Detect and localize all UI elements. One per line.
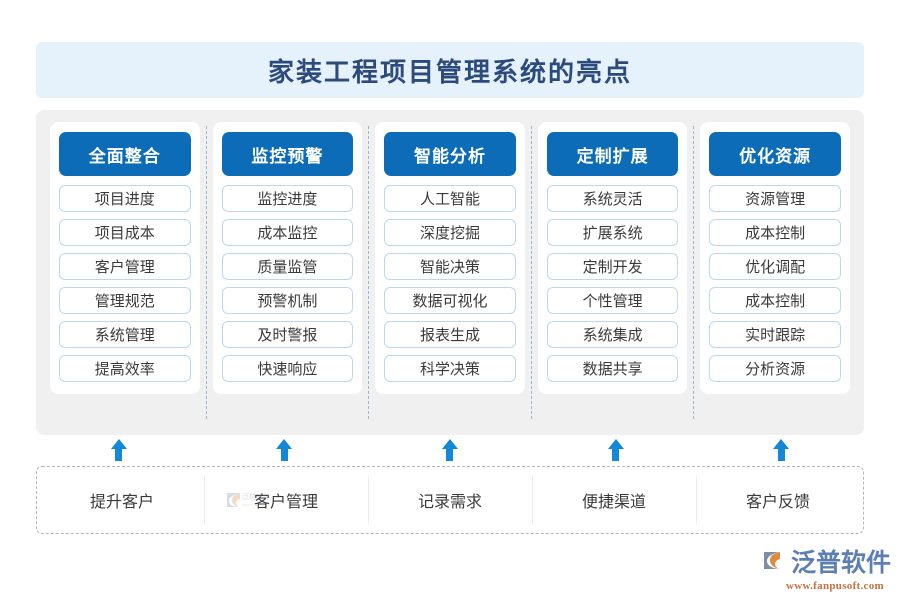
column-item[interactable]: 项目进度 [59,185,191,212]
bottom-cell-4[interactable]: 客户反馈 [699,472,857,528]
column-item[interactable]: 深度挖掘 [384,219,516,246]
footer-brand: 泛普软件 [791,551,891,576]
column-wrap-3: 定制扩展 系统灵活 扩展系统 定制开发 个性管理 系统集成 数据共享 [532,122,694,394]
bottom-cell-0[interactable]: 提升客户 [43,472,201,528]
bottom-cell-3[interactable]: 便捷渠道 [535,472,693,528]
column-item[interactable]: 项目成本 [59,219,191,246]
feature-column-4[interactable]: 优化资源 资源管理 成本控制 优化调配 成本控制 实时跟踪 分析资源 [700,122,850,394]
column-item[interactable]: 成本控制 [709,219,841,246]
arrow-up-icon [442,439,458,461]
column-header-0[interactable]: 全面整合 [59,132,191,176]
column-item[interactable]: 报表生成 [384,321,516,348]
feature-column-3[interactable]: 定制扩展 系统灵活 扩展系统 定制开发 个性管理 系统集成 数据共享 [538,122,688,394]
column-item[interactable]: 质量监管 [222,253,354,280]
page-title-band: 家装工程项目管理系统的亮点 [36,42,864,98]
arrow-cell-2 [367,437,533,463]
column-header-2[interactable]: 智能分析 [384,132,516,176]
column-item[interactable]: 实时跟踪 [709,321,841,348]
column-item[interactable]: 数据共享 [547,355,679,382]
column-item[interactable]: 智能决策 [384,253,516,280]
arrow-cell-1 [202,437,368,463]
column-item[interactable]: 系统集成 [547,321,679,348]
column-item[interactable]: 成本控制 [709,287,841,314]
feature-column-1[interactable]: 监控预警 监控进度 成本监控 质量监管 预警机制 及时警报 快速响应 [213,122,363,394]
column-item[interactable]: 定制开发 [547,253,679,280]
column-item[interactable]: 提高效率 [59,355,191,382]
arrow-up-icon [111,439,127,461]
bottom-foundation-panel: 提升客户 泛普软件 fanpusoft.com 客户管理 记录需求 便捷渠道 客… [36,466,864,534]
column-wrap-1: 监控预警 监控进度 成本监控 质量监管 预警机制 及时警报 快速响应 [207,122,369,394]
column-item[interactable]: 客户管理 [59,253,191,280]
column-item[interactable]: 优化调配 [709,253,841,280]
column-wrap-4: 优化资源 资源管理 成本控制 优化调配 成本控制 实时跟踪 分析资源 [694,122,856,394]
arrow-up-icon [276,439,292,461]
bottom-cell-label: 客户反馈 [746,488,810,512]
column-item[interactable]: 管理规范 [59,287,191,314]
feature-column-0[interactable]: 全面整合 项目进度 项目成本 客户管理 管理规范 系统管理 提高效率 [50,122,200,394]
arrow-row [36,437,864,463]
column-item[interactable]: 扩展系统 [547,219,679,246]
column-wrap-2: 智能分析 人工智能 深度挖掘 智能决策 数据可视化 报表生成 科学决策 [369,122,531,394]
column-item[interactable]: 资源管理 [709,185,841,212]
bottom-cell-label: 客户管理 [254,488,318,512]
arrow-up-icon [773,439,789,461]
column-header-1[interactable]: 监控预警 [222,132,354,176]
column-item[interactable]: 系统灵活 [547,185,679,212]
bottom-cell-label: 便捷渠道 [582,488,646,512]
column-item[interactable]: 及时警报 [222,321,354,348]
column-item[interactable]: 预警机制 [222,287,354,314]
fanpu-logo-icon [762,548,788,579]
column-item[interactable]: 人工智能 [384,185,516,212]
column-header-3[interactable]: 定制扩展 [547,132,679,176]
column-header-4[interactable]: 优化资源 [709,132,841,176]
infographic-page: 家装工程项目管理系统的亮点 全面整合 项目进度 项目成本 客户管理 管理规范 系… [0,0,900,600]
arrow-up-icon [608,439,624,461]
footer-url: www.fanpusoft.com [786,580,884,592]
page-title: 家装工程项目管理系统的亮点 [268,52,632,89]
column-item[interactable]: 科学决策 [384,355,516,382]
arrow-cell-4 [698,437,864,463]
feature-columns-panel: 全面整合 项目进度 项目成本 客户管理 管理规范 系统管理 提高效率 监控预警 … [36,110,864,435]
column-item[interactable]: 数据可视化 [384,287,516,314]
footer-logo: 泛普软件 www.fanpusoft.com [762,548,894,592]
column-item[interactable]: 快速响应 [222,355,354,382]
bottom-cell-label: 提升客户 [90,488,154,512]
bottom-cell-1[interactable]: 泛普软件 fanpusoft.com 客户管理 [207,472,365,528]
column-item[interactable]: 监控进度 [222,185,354,212]
column-item[interactable]: 系统管理 [59,321,191,348]
arrow-cell-3 [533,437,699,463]
column-wrap-0: 全面整合 项目进度 项目成本 客户管理 管理规范 系统管理 提高效率 [44,122,206,394]
footer-logo-row: 泛普软件 [762,548,891,579]
feature-column-2[interactable]: 智能分析 人工智能 深度挖掘 智能决策 数据可视化 报表生成 科学决策 [375,122,525,394]
arrow-cell-0 [36,437,202,463]
column-item[interactable]: 成本监控 [222,219,354,246]
bottom-cell-label: 记录需求 [418,488,482,512]
column-item[interactable]: 分析资源 [709,355,841,382]
bottom-cell-2[interactable]: 记录需求 [371,472,529,528]
column-item[interactable]: 个性管理 [547,287,679,314]
